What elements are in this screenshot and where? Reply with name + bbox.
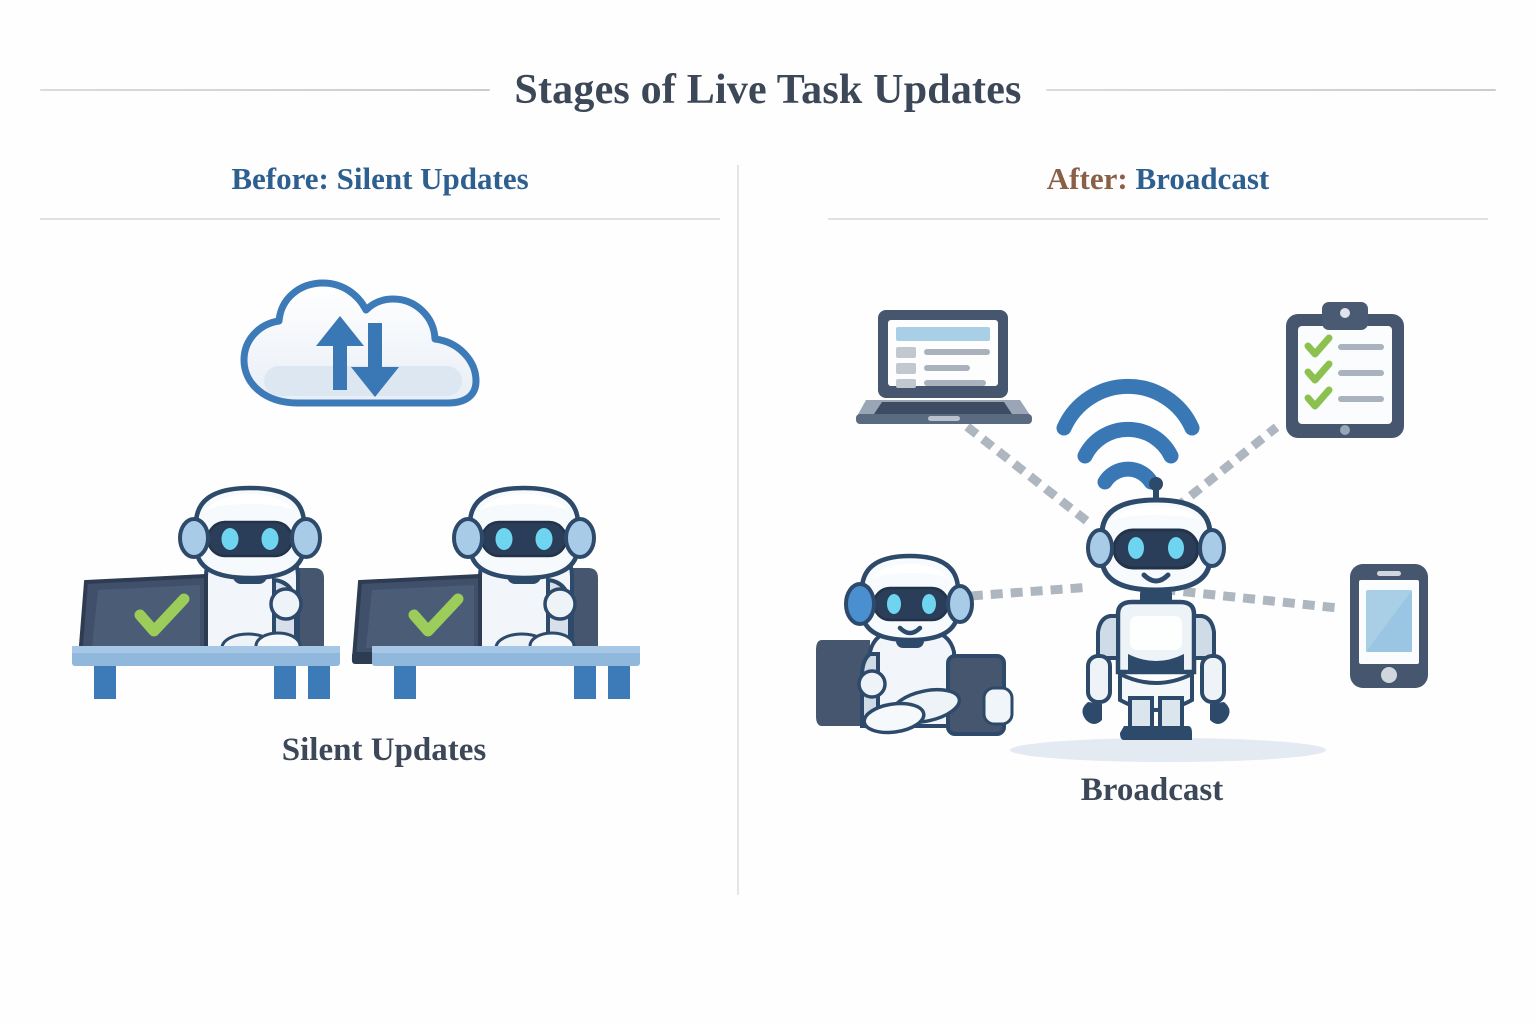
clipboard-checklist-icon (1282, 302, 1408, 442)
panel-after: After: Broadcast (768, 150, 1536, 934)
cloud-sync-icon (228, 278, 498, 428)
panel-after-scene: Broadcast (768, 150, 1536, 934)
title-rule-left (40, 89, 490, 91)
page-title-row: Stages of Live Task Updates (40, 58, 1496, 122)
title-rule-right (1046, 89, 1496, 91)
robot-with-tablet-icon (818, 548, 1028, 730)
smartphone-icon (1346, 562, 1432, 690)
page-title: Stages of Live Task Updates (514, 66, 1021, 114)
laptop-icon (856, 308, 1032, 426)
desk-two (372, 646, 640, 706)
standing-robot-icon (1062, 476, 1250, 744)
panel-after-caption: Broadcast (768, 772, 1536, 809)
panel-before-caption: Silent Updates (0, 732, 768, 769)
panels-container: Before: Silent Updates (0, 150, 1536, 934)
diagram-canvas: Stages of Live Task Updates Before: Sile… (0, 0, 1536, 1024)
panel-before: Before: Silent Updates (0, 150, 768, 934)
desk-one (72, 646, 340, 706)
panel-before-scene: Silent Updates (0, 150, 768, 934)
